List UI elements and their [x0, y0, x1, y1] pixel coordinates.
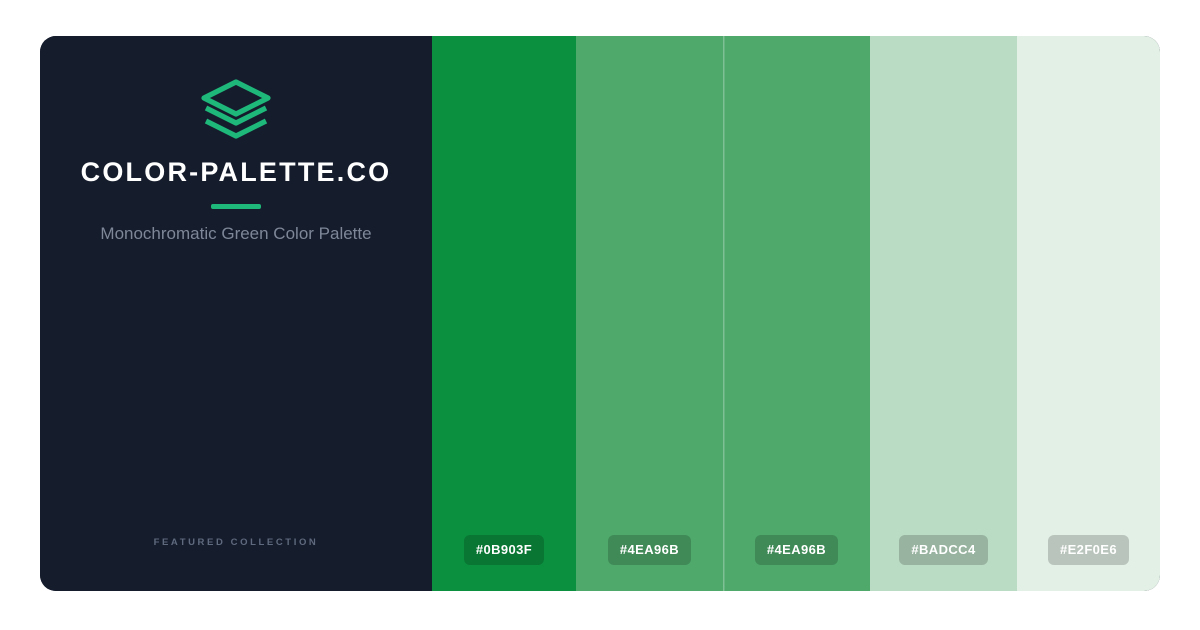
color-swatch[interactable]: #BADCC4: [870, 36, 1017, 591]
brand-info-panel: COLOR-PALETTE.CO Monochromatic Green Col…: [40, 36, 432, 591]
color-hex-chip: #0B903F: [464, 535, 544, 565]
color-hex-chip: #BADCC4: [899, 535, 987, 565]
color-swatch-strip: #0B903F #4EA96B #4EA96B #BADCC4 #E2F0E6: [432, 36, 1160, 591]
featured-collection-label: FEATURED COLLECTION: [40, 537, 432, 548]
page-title: COLOR-PALETTE.CO: [71, 158, 402, 188]
color-swatch[interactable]: #0B903F: [432, 36, 576, 591]
title-divider: [211, 204, 261, 209]
color-hex-chip: #4EA96B: [608, 535, 691, 565]
screenshot-canvas: COLOR-PALETTE.CO Monochromatic Green Col…: [0, 0, 1200, 630]
color-swatch[interactable]: #4EA96B: [723, 36, 870, 591]
layers-stack-icon: [199, 78, 273, 140]
page-subtitle: Monochromatic Green Color Palette: [100, 223, 371, 244]
color-swatch[interactable]: #E2F0E6: [1017, 36, 1160, 591]
palette-card: COLOR-PALETTE.CO Monochromatic Green Col…: [40, 36, 1160, 591]
color-swatch[interactable]: #4EA96B: [576, 36, 723, 591]
color-hex-chip: #4EA96B: [755, 535, 838, 565]
color-hex-chip: #E2F0E6: [1048, 535, 1129, 565]
